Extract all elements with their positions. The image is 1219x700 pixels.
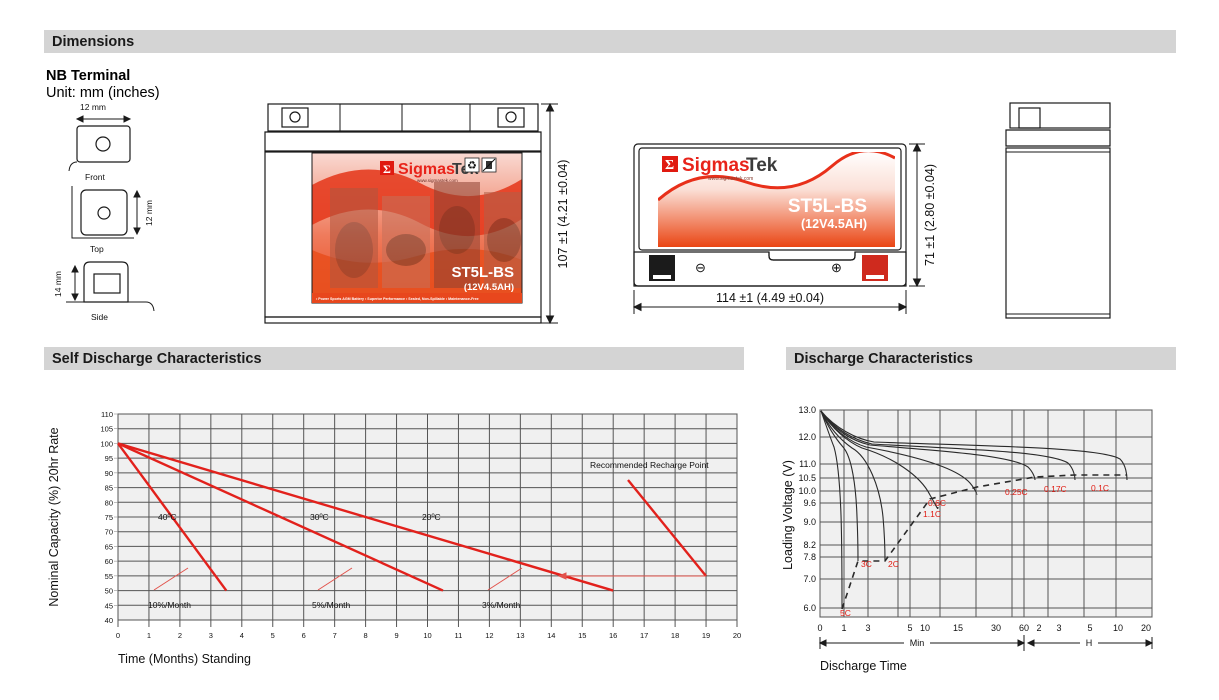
brand-name-red-side: Sigmas [682,155,750,176]
svg-text:85: 85 [105,484,113,493]
label-40c: 40ºC [158,512,177,522]
brand-name-red: Sigmas [398,161,455,178]
svg-text:12: 12 [485,631,493,640]
svg-text:13.0: 13.0 [798,405,816,415]
svg-text:105: 105 [100,425,113,434]
terminal-detail-drawings: 12 mm Front 12 mm Top 14 mm Side [44,100,234,330]
svg-text:40: 40 [105,616,113,625]
discharge-x-span-indicators [820,635,1152,651]
svg-text:5: 5 [271,631,275,640]
svg-text:3: 3 [209,631,213,640]
terminal-front-shape [77,126,130,162]
weee-bin-icon [482,158,496,172]
discharge-ylabel: Loading Voltage (V) [781,460,795,570]
svg-text:55: 55 [105,572,113,581]
svg-text:♻: ♻ [467,160,477,172]
svg-text:2: 2 [1036,623,1041,633]
svg-text:80: 80 [105,498,113,507]
self-discharge-xlabel: Time (Months) Standing [118,652,251,666]
svg-text:3: 3 [865,623,870,633]
label-20c: 20ºC [422,512,441,522]
svg-text:19: 19 [702,631,710,640]
svg-text:6: 6 [302,631,306,640]
battery-side-height-dim: 71 ±1 (2.80 ±0.04) [923,164,937,266]
self-discharge-x-ticks: 012 345 678 91011 121314 151617 181920 [116,631,741,640]
section-title-discharge: Discharge Characteristics [794,351,973,367]
discharge-span-hour: H [1086,638,1093,648]
svg-text:16: 16 [609,631,617,640]
svg-text:10: 10 [423,631,431,640]
battery-model-front: ST5L-BS [451,264,514,281]
svg-text:95: 95 [105,454,113,463]
svg-text:12.0: 12.0 [798,432,816,442]
front-width-label: 12 mm [80,102,106,112]
battery-spec-front: (12V4.5AH) [464,282,514,293]
negative-symbol: ⊖ [695,260,706,275]
svg-text:20: 20 [1141,623,1151,633]
svg-text:50: 50 [105,587,113,596]
top-height-label: 12 mm [144,200,154,226]
front-view-label: Front [85,172,105,182]
svg-text:Σ: Σ [665,158,674,173]
discharge-span-min: Min [910,638,925,648]
battery-side-view: Σ Sigmas Tek www.sigmastek.com ST5L-BS (… [622,100,957,335]
label-recommended-recharge-point: Recommended Recharge Point [590,460,709,470]
recycle-icon: ♻ [465,158,479,172]
svg-text:10.5: 10.5 [798,473,816,483]
svg-text:9.0: 9.0 [803,517,816,527]
svg-text:7.0: 7.0 [803,574,816,584]
self-discharge-x-tickmarks [118,620,737,627]
svg-text:75: 75 [105,513,113,522]
svg-text:Σ: Σ [383,162,391,176]
label-5c: 5C [840,608,851,618]
battery-spec-side: (12V4.5AH) [801,217,867,231]
svg-text:0: 0 [817,623,822,633]
svg-text:6.0: 6.0 [803,603,816,613]
battery-width-dim: 114 ±1 (4.49 ±0.04) [716,291,824,305]
label-5-percent-month: 5%/Month [312,600,351,610]
svg-text:11: 11 [455,631,463,640]
battery-tagline: • Power Sports AGM Battery • Superior Pe… [316,297,479,301]
svg-text:15: 15 [578,631,586,640]
terminal-top-hole [98,207,110,219]
label-0-25c: 0.25C [1005,487,1028,497]
label-0-17c: 0.17C [1044,484,1067,494]
svg-text:5: 5 [907,623,912,633]
battery-model-side: ST5L-BS [788,196,867,217]
svg-text:0: 0 [116,631,120,640]
terminal-front-hole [96,137,110,151]
discharge-chart: 13.0 12.0 11.0 10.5 10.0 9.6 9.0 8.2 7.8… [780,395,1200,695]
svg-text:45: 45 [105,601,113,610]
battery-profile-view [968,95,1118,330]
svg-text:20: 20 [733,631,741,640]
section-header-self-discharge: Self Discharge Characteristics [44,347,744,370]
terminal-top-shape [81,190,127,235]
svg-text:7: 7 [333,631,337,640]
svg-text:8: 8 [364,631,368,640]
brand-website: www.sigmastek.com [417,178,458,183]
terminal-side-hole [94,274,120,293]
svg-text:4: 4 [240,631,244,640]
svg-text:10: 10 [920,623,930,633]
label-0-6c: 0.6C [928,498,946,508]
svg-text:7.8: 7.8 [803,552,816,562]
svg-text:13: 13 [516,631,524,640]
svg-text:90: 90 [105,469,113,478]
section-header-discharge: Discharge Characteristics [786,347,1176,370]
self-discharge-y-tickmarks [114,414,118,605]
svg-text:3: 3 [1056,623,1061,633]
svg-text:17: 17 [640,631,648,640]
discharge-y-ticks: 13.0 12.0 11.0 10.5 10.0 9.6 9.0 8.2 7.8… [798,405,816,613]
battery-front-view: Σ Sigmas Tek www.sigmastek.com ♻ ST5L-BS… [262,100,592,335]
self-discharge-y-ticks: 110 105 100 95 90 85 80 75 70 65 60 55 5… [100,410,113,625]
section-title-dimensions: Dimensions [52,34,134,50]
svg-text:60: 60 [1019,623,1029,633]
svg-text:70: 70 [105,528,113,537]
svg-text:15: 15 [953,623,963,633]
terminal-side-shape [84,262,128,302]
self-discharge-chart: 110 105 100 95 90 85 80 75 70 65 60 55 5… [40,400,750,700]
positive-symbol: ⊕ [831,260,842,275]
svg-text:1: 1 [841,623,846,633]
svg-text:60: 60 [105,557,113,566]
side-view-label: Side [91,312,108,322]
svg-text:1: 1 [147,631,151,640]
label-3c: 3C [861,559,872,569]
svg-text:8.2: 8.2 [803,540,816,550]
label-0-1c: 0.1C [1091,483,1109,493]
svg-text:5: 5 [1087,623,1092,633]
svg-text:10: 10 [1113,623,1123,633]
battery-height-dim: 107 ±1 (4.21 ±0.04) [556,160,570,269]
svg-text:9.6: 9.6 [803,498,816,508]
label-10-percent-month: 10%/Month [148,600,191,610]
self-discharge-ylabel: Nominal Capacity (%) 20hr Rate [47,427,61,606]
top-view-label: Top [90,244,104,254]
nb-terminal-title: NB Terminal [46,68,130,84]
svg-text:100: 100 [100,439,113,448]
label-1-1c: 1.1C [923,509,941,519]
svg-text:110: 110 [101,410,113,419]
svg-text:2: 2 [178,631,182,640]
side-height-label: 14 mm [53,271,63,297]
discharge-xlabel: Discharge Time [820,659,907,673]
svg-text:18: 18 [671,631,679,640]
svg-text:30: 30 [991,623,1001,633]
section-title-self-discharge: Self Discharge Characteristics [52,351,262,367]
unit-note: Unit: mm (inches) [46,85,160,101]
svg-text:10.0: 10.0 [798,486,816,496]
svg-text:9: 9 [394,631,398,640]
discharge-x-ticks: 0 1 3 5 10 15 30 60 2 3 5 10 20 [817,623,1151,633]
brand-name-gray-side: Tek [746,155,778,176]
brand-website-side: www.sigmastek.com [708,176,753,182]
section-header-dimensions: Dimensions [44,30,1176,53]
svg-text:11.0: 11.0 [799,459,816,469]
svg-text:14: 14 [547,631,555,640]
label-3-percent-month: 3%/Month [482,600,521,610]
label-2c: 2C [888,559,899,569]
svg-text:65: 65 [105,542,113,551]
label-30c: 30ºC [310,512,329,522]
